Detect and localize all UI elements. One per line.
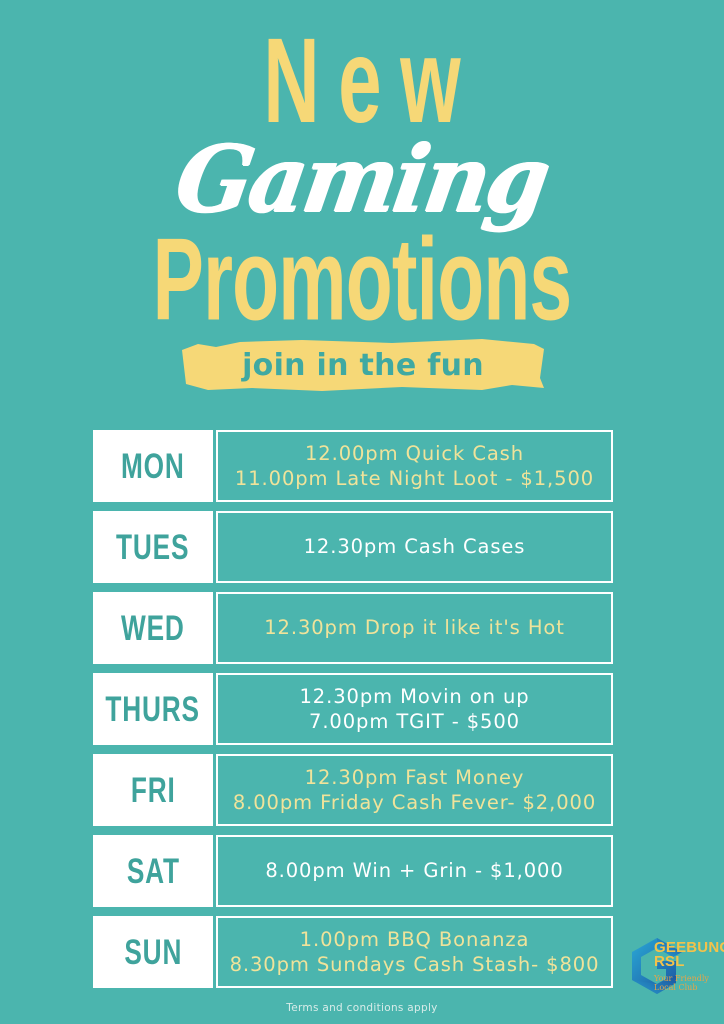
- promotions-cell: 12.00pm Quick Cash11.00pm Late Night Loo…: [216, 430, 613, 502]
- club-logo: GEEBUNG RSL Your Friendly Local Club: [626, 933, 718, 1007]
- join-in-the-fun-banner: join in the fun: [182, 338, 544, 392]
- day-label: TUES: [116, 527, 189, 568]
- promotion-line: 7.00pm TGIT - $500: [309, 709, 520, 734]
- day-label: SAT: [127, 851, 180, 892]
- promotion-line: 12.00pm Quick Cash: [305, 441, 524, 466]
- schedule-row: WED12.30pm Drop it like it's Hot: [93, 592, 613, 664]
- promotions-cell: 12.30pm Fast Money8.00pm Friday Cash Fev…: [216, 754, 613, 826]
- promotion-line: 12.30pm Fast Money: [305, 765, 525, 790]
- banner-label: join in the fun: [182, 338, 544, 392]
- schedule-row: MON12.00pm Quick Cash11.00pm Late Night …: [93, 430, 613, 502]
- day-cell-sun: SUN: [93, 916, 213, 988]
- schedule-row: TUES12.30pm Cash Cases: [93, 511, 613, 583]
- headline-new: New: [101, 20, 622, 141]
- day-cell-fri: FRI: [93, 754, 213, 826]
- headline-gaming: Gaming: [7, 133, 717, 225]
- logo-tagline-line2: Local Club: [654, 983, 718, 992]
- promotion-line: 8.00pm Win + Grin - $1,000: [265, 858, 563, 883]
- day-cell-thurs: THURS: [93, 673, 213, 745]
- day-label: MON: [121, 446, 185, 487]
- promotions-cell: 1.00pm BBQ Bonanza8.30pm Sundays Cash St…: [216, 916, 613, 988]
- promotion-line: 11.00pm Late Night Loot - $1,500: [235, 466, 594, 491]
- day-label: WED: [121, 608, 185, 649]
- promotion-line: 8.00pm Friday Cash Fever- $2,000: [233, 790, 596, 815]
- logo-wordmark: GEEBUNG RSL Your Friendly Local Club: [654, 941, 718, 993]
- promotions-cell: 8.00pm Win + Grin - $1,000: [216, 835, 613, 907]
- terms-and-conditions: Terms and conditions apply: [0, 1002, 724, 1014]
- logo-tagline: Your Friendly Local Club: [654, 974, 718, 993]
- promotions-cell: 12.30pm Cash Cases: [216, 511, 613, 583]
- promotion-line: 12.30pm Cash Cases: [304, 534, 526, 559]
- schedule-row: SAT8.00pm Win + Grin - $1,000: [93, 835, 613, 907]
- promotion-line: 8.30pm Sundays Cash Stash- $800: [230, 952, 600, 977]
- day-cell-wed: WED: [93, 592, 213, 664]
- promotion-line: 12.30pm Movin on up: [300, 684, 530, 709]
- day-cell-mon: MON: [93, 430, 213, 502]
- logo-name: GEEBUNG RSL: [654, 941, 718, 970]
- day-label: SUN: [124, 932, 182, 973]
- schedule-row: SUN1.00pm BBQ Bonanza8.30pm Sundays Cash…: [93, 916, 613, 988]
- day-label: FRI: [131, 770, 176, 811]
- day-cell-tues: TUES: [93, 511, 213, 583]
- promotions-schedule: MON12.00pm Quick Cash11.00pm Late Night …: [93, 430, 613, 997]
- headline-promotions: Promotions: [72, 222, 651, 339]
- promotion-line: 12.30pm Drop it like it's Hot: [264, 615, 565, 640]
- schedule-row: FRI12.30pm Fast Money8.00pm Friday Cash …: [93, 754, 613, 826]
- logo-name-line2: RSL: [654, 955, 718, 969]
- day-label: THURS: [106, 689, 200, 730]
- promotions-poster: New Promotions Gaming join in the fun MO…: [0, 0, 724, 1024]
- promotions-cell: 12.30pm Drop it like it's Hot: [216, 592, 613, 664]
- promotions-cell: 12.30pm Movin on up7.00pm TGIT - $500: [216, 673, 613, 745]
- day-cell-sat: SAT: [93, 835, 213, 907]
- promotion-line: 1.00pm BBQ Bonanza: [300, 927, 530, 952]
- schedule-row: THURS12.30pm Movin on up7.00pm TGIT - $5…: [93, 673, 613, 745]
- logo-tagline-line1: Your Friendly: [654, 974, 718, 983]
